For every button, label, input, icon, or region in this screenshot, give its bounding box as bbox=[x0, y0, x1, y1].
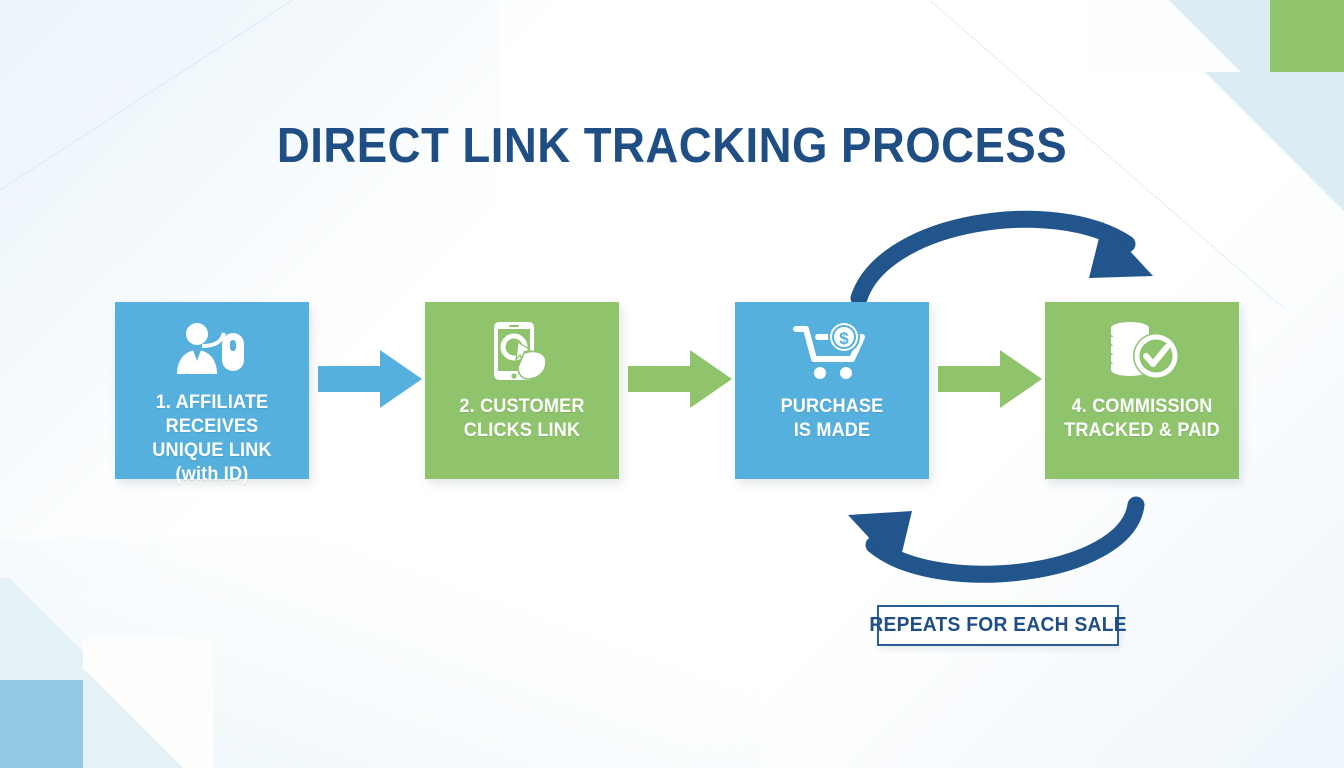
arrow-right-icon bbox=[628, 348, 734, 410]
step-card-purchase-is-made[interactable]: $ PURCHASE IS MADE bbox=[735, 302, 929, 479]
curved-arrow-left-icon bbox=[826, 485, 1156, 595]
step-card-label: PURCHASE IS MADE bbox=[744, 395, 921, 443]
background-green-square-top-right bbox=[1270, 0, 1344, 72]
diagram-canvas: DIRECT LINK TRACKING PROCESS bbox=[0, 0, 1344, 768]
step-label-line-2: CLICKS LINK bbox=[434, 419, 611, 443]
step-label-line-3: (with ID) bbox=[124, 463, 301, 487]
step-card-commission-tracked-paid[interactable]: 4. COMMISSION TRACKED & PAID bbox=[1045, 302, 1239, 479]
arrow-right-icon bbox=[318, 348, 424, 410]
step-label-line-2: TRACKED & PAID bbox=[1054, 419, 1231, 443]
step-card-affiliate-receives-link[interactable]: 1. AFFILIATE RECEIVES UNIQUE LINK (with … bbox=[115, 302, 309, 479]
svg-text:$: $ bbox=[839, 329, 849, 348]
background-white-wedge-bottom-left bbox=[83, 638, 213, 768]
step-label-line-2: UNIQUE LINK bbox=[124, 439, 301, 463]
step-card-customer-clicks-link[interactable]: 2. CUSTOMER CLICKS LINK bbox=[425, 302, 619, 479]
shopping-cart-dollar-icon: $ bbox=[792, 319, 872, 385]
step-label-line-1: PURCHASE bbox=[744, 395, 921, 419]
step-label-line-2: IS MADE bbox=[744, 419, 921, 443]
loop-caption-box: REPEATS FOR EACH SALE bbox=[877, 605, 1119, 646]
background-white-wedge-top-right bbox=[1090, 0, 1270, 72]
background-blue-square-bottom-left bbox=[0, 680, 83, 768]
step-card-label: 2. CUSTOMER CLICKS LINK bbox=[434, 395, 611, 443]
step-label-line-1: 4. COMMISSION bbox=[1054, 395, 1231, 419]
step-card-label: 4. COMMISSION TRACKED & PAID bbox=[1054, 395, 1231, 443]
step-label-line-1: 1. AFFILIATE RECEIVES bbox=[124, 391, 301, 439]
loop-caption-text: REPEATS FOR EACH SALE bbox=[869, 614, 1126, 637]
tablet-tap-icon bbox=[484, 319, 560, 385]
arrow-right-icon bbox=[938, 348, 1044, 410]
page-title: DIRECT LINK TRACKING PROCESS bbox=[47, 118, 1297, 174]
user-with-mouse-icon bbox=[172, 319, 252, 381]
curved-arrow-right-icon bbox=[845, 198, 1175, 308]
coins-check-icon bbox=[1102, 319, 1182, 385]
step-label-line-1: 2. CUSTOMER bbox=[434, 395, 611, 419]
step-card-label: 1. AFFILIATE RECEIVES UNIQUE LINK (with … bbox=[124, 391, 301, 487]
